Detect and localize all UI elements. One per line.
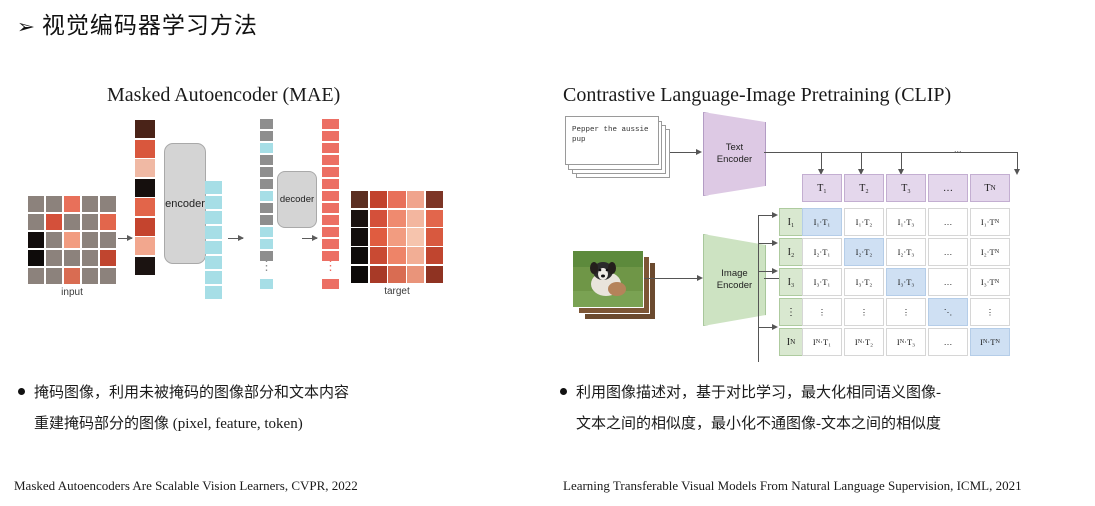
input-patch — [82, 196, 98, 212]
clip-text-encoder-label: Text Encoder — [717, 142, 752, 166]
mae-bullet-marker — [18, 388, 25, 395]
mixed-token-gray — [260, 179, 273, 189]
mae-target-caption: target — [351, 286, 443, 297]
input-patch — [82, 268, 98, 284]
target-patch — [370, 266, 387, 283]
input-patch — [28, 196, 44, 212]
text-token-cell-1: T₁ — [802, 174, 842, 202]
input-patch — [100, 250, 116, 266]
text-token-cell-3: T₃ — [886, 174, 926, 202]
visible-patch — [135, 198, 155, 216]
mae-visible-patch-strip — [135, 120, 155, 275]
arrow-input-to-patches-icon — [118, 238, 132, 239]
prediction-token — [322, 227, 339, 237]
target-patch — [388, 228, 405, 245]
prediction-token — [322, 279, 339, 289]
clip-bullet-line2: 文本之间的相似度，最小化不通图像-文本之间的相似度 — [576, 409, 1080, 440]
clip-diagram: Pepper the aussie pup Text En — [560, 112, 1060, 372]
mixed-token-gray — [260, 155, 273, 165]
target-patch — [370, 247, 387, 264]
target-patch — [426, 266, 443, 283]
matrix-cell: IN·T₁ — [802, 328, 842, 356]
arrow-to-t2-icon — [861, 152, 862, 170]
arrow-to-i2-icon — [759, 243, 773, 244]
clip-text-card-stack: Pepper the aussie pup — [565, 116, 670, 178]
clip-top-ellipsis: ... — [954, 144, 962, 154]
clip-bullet-line1: 利用图像描述对，基于对比学习，最大化相同语义图像- — [576, 385, 941, 401]
prediction-token — [322, 215, 339, 225]
latent-token — [205, 256, 222, 269]
image-token-cell-1: I₁ — [779, 208, 803, 236]
arrow-to-t1-icon — [821, 152, 822, 170]
latent-token — [205, 181, 222, 194]
mae-bullet-line1: 掩码图像，利用未被掩码的图像部分和文本内容 — [34, 385, 349, 401]
mixed-token-cyan — [260, 191, 273, 201]
mixed-token-gray — [260, 203, 273, 213]
matrix-cell: ⋮ — [844, 298, 884, 326]
target-patch — [388, 191, 405, 208]
text-token-cell-4: … — [928, 174, 968, 202]
target-patch — [351, 191, 368, 208]
prediction-token — [322, 155, 339, 165]
prediction-column-ellipsis: ⋮ — [322, 263, 339, 277]
target-patch — [388, 247, 405, 264]
clip-panel-heading: Contrastive Language-Image Pretraining (… — [563, 84, 951, 107]
mixed-token-gray — [260, 119, 273, 129]
target-patch — [351, 247, 368, 264]
matrix-row: I₁·T₁I₁·T₂I₁·T₃…I₁·TN — [802, 208, 1010, 236]
latent-token — [205, 271, 222, 284]
visible-patch — [135, 120, 155, 138]
input-patch — [100, 196, 116, 212]
bullet-triangle-icon: ➢ — [17, 16, 36, 39]
input-patch — [28, 268, 44, 284]
arrow-textcards-to-encoder-icon — [670, 152, 697, 153]
matrix-cell: I₂·T₃ — [886, 238, 926, 266]
mae-encoder-box: encoder — [164, 143, 206, 264]
prediction-token — [322, 203, 339, 213]
mae-mixed-token-column: ⋮ — [260, 119, 273, 289]
matrix-cell: I₂·TN — [970, 238, 1010, 266]
input-patch — [46, 268, 62, 284]
target-patch — [351, 210, 368, 227]
input-patch — [64, 250, 80, 266]
clip-image-token-column: I₁I₂I₃⋮IN — [779, 208, 803, 356]
input-patch — [82, 250, 98, 266]
target-patch — [426, 191, 443, 208]
page-title: ➢视觉编码器学习方法 — [18, 6, 258, 40]
latent-token — [205, 211, 222, 224]
matrix-cell: ⋮ — [970, 298, 1010, 326]
mae-latent-token-column — [205, 181, 222, 299]
input-patch — [64, 232, 80, 248]
mixed-column-ellipsis: ⋮ — [260, 263, 273, 277]
mixed-token-cyan — [260, 239, 273, 249]
input-patch — [46, 250, 62, 266]
dog-photo-icon — [573, 251, 643, 307]
matrix-cell: … — [928, 328, 968, 356]
mae-encoder-label: encoder — [165, 198, 205, 210]
image-token-cell-5: IN — [779, 328, 803, 356]
input-patch — [46, 214, 62, 230]
input-patch — [28, 250, 44, 266]
target-patch — [407, 191, 424, 208]
matrix-cell: I₁·T₃ — [886, 208, 926, 236]
visible-patch — [135, 237, 155, 255]
latent-token — [205, 286, 222, 299]
arrow-to-t3-icon — [901, 152, 902, 170]
prediction-token — [322, 179, 339, 189]
target-patch — [426, 247, 443, 264]
arrow-to-tn-icon — [1017, 152, 1018, 170]
arrow-decoder-to-target-icon — [302, 238, 317, 239]
image-token-cell-4: ⋮ — [779, 298, 803, 326]
target-patch — [351, 228, 368, 245]
arrow-images-to-encoder-icon — [644, 278, 698, 279]
matrix-cell: I₃·T₂ — [844, 268, 884, 296]
matrix-cell: I₃·TN — [970, 268, 1010, 296]
latent-token — [205, 241, 222, 254]
clip-similarity-matrix: I₁·T₁I₁·T₂I₁·T₃…I₁·TNI₂·T₁I₂·T₂I₂·T₃…I₂·… — [802, 208, 1010, 356]
page-title-text: 视觉编码器学习方法 — [42, 13, 258, 38]
arrow-to-i1-icon — [759, 215, 773, 216]
input-patch — [82, 232, 98, 248]
input-patch — [100, 232, 116, 248]
latent-token — [205, 196, 222, 209]
mae-decoder-box: decoder — [277, 171, 317, 228]
matrix-cell: ⋱ — [928, 298, 968, 326]
mixed-token-cyan — [260, 143, 273, 153]
photo-front-dog — [572, 250, 644, 308]
latent-token — [205, 226, 222, 239]
text-token-cell-5: TN — [970, 174, 1010, 202]
matrix-cell: I₂·T₂ — [844, 238, 884, 266]
mae-bullet-block: 掩码图像，利用未被掩码的图像部分和文本内容 重建掩码部分的图像 (pixel, … — [18, 378, 498, 440]
input-patch — [46, 196, 62, 212]
input-patch — [82, 214, 98, 230]
clip-text-token-row: T₁T₂T₃…TN — [802, 174, 1010, 202]
matrix-row: IN·T₁IN·T₂IN·T₃…IN·TN — [802, 328, 1010, 356]
text-token-cell-2: T₂ — [844, 174, 884, 202]
target-patch — [370, 228, 387, 245]
arrow-to-i3-icon — [759, 271, 773, 272]
matrix-row: I₂·T₁I₂·T₂I₂·T₃…I₂·TN — [802, 238, 1010, 266]
mae-bullet-line2: 重建掩码部分的图像 (pixel, feature, token) — [34, 409, 498, 440]
prediction-token — [322, 167, 339, 177]
visible-patch — [135, 257, 155, 275]
target-patch — [407, 266, 424, 283]
visible-patch — [135, 179, 155, 197]
clip-bullet-block: 利用图像描述对，基于对比学习，最大化相同语义图像- 文本之间的相似度，最小化不通… — [560, 378, 1080, 440]
input-patch — [64, 268, 80, 284]
mixed-token-gray — [260, 131, 273, 141]
mae-input-caption: input — [28, 287, 116, 298]
input-patch — [100, 268, 116, 284]
mae-prediction-token-column: ⋮ — [322, 119, 339, 289]
mae-diagram: input encoder ⋮ decoder ⋮ target — [14, 118, 514, 313]
target-patch — [407, 228, 424, 245]
clip-bullet-marker — [560, 388, 567, 395]
mae-decoder-label: decoder — [280, 194, 314, 205]
clip-text-card-label: Pepper the aussie pup — [572, 125, 652, 145]
target-patch — [351, 266, 368, 283]
input-patch — [28, 214, 44, 230]
matrix-cell: ⋮ — [802, 298, 842, 326]
matrix-cell: ⋮ — [886, 298, 926, 326]
matrix-cell: I₃·T₁ — [802, 268, 842, 296]
matrix-cell: I₁·T₁ — [802, 208, 842, 236]
clip-image-encoder-box: Image Encoder — [703, 234, 766, 326]
target-patch — [370, 210, 387, 227]
mae-panel-heading: Masked Autoencoder (MAE) — [107, 84, 340, 107]
clip-image-encoder-label: Image Encoder — [717, 268, 752, 292]
target-patch — [407, 210, 424, 227]
matrix-row: I₃·T₁I₃·T₂I₃·T₃…I₃·TN — [802, 268, 1010, 296]
matrix-cell: IN·T₂ — [844, 328, 884, 356]
clip-image-stack — [570, 248, 666, 320]
image-token-cell-2: I₂ — [779, 238, 803, 266]
target-patch — [370, 191, 387, 208]
mae-citation: Masked Autoencoders Are Scalable Vision … — [14, 478, 358, 494]
matrix-cell: I₁·T₂ — [844, 208, 884, 236]
image-token-cell-3: I₃ — [779, 268, 803, 296]
image-encoder-bus-v — [758, 215, 759, 362]
prediction-token — [322, 239, 339, 249]
mae-target-patch-grid — [351, 191, 443, 283]
input-patch — [100, 214, 116, 230]
input-patch — [64, 214, 80, 230]
matrix-cell: … — [928, 238, 968, 266]
matrix-cell: IN·TN — [970, 328, 1010, 356]
matrix-cell: I₁·TN — [970, 208, 1010, 236]
input-patch — [46, 232, 62, 248]
mixed-token-gray — [260, 167, 273, 177]
mae-input-patch-grid — [28, 196, 116, 284]
matrix-cell: IN·T₃ — [886, 328, 926, 356]
visible-patch — [135, 218, 155, 236]
arrow-to-in-icon — [759, 327, 773, 328]
visible-patch — [135, 140, 155, 158]
matrix-cell: … — [928, 208, 968, 236]
arrow-latent-to-mixed-icon — [228, 238, 243, 239]
prediction-token — [322, 119, 339, 129]
mixed-token-cyan — [260, 227, 273, 237]
matrix-cell: I₃·T₃ — [886, 268, 926, 296]
target-patch — [426, 210, 443, 227]
text-encoder-bus-line — [764, 152, 1018, 153]
mixed-token-cyan — [260, 279, 273, 289]
target-patch — [407, 247, 424, 264]
text-card-front: Pepper the aussie pup — [565, 116, 659, 165]
clip-citation: Learning Transferable Visual Models From… — [563, 478, 1022, 494]
target-patch — [388, 266, 405, 283]
mixed-token-gray — [260, 215, 273, 225]
prediction-token — [322, 131, 339, 141]
visible-patch — [135, 159, 155, 177]
target-patch — [426, 228, 443, 245]
matrix-cell: … — [928, 268, 968, 296]
matrix-cell: I₂·T₁ — [802, 238, 842, 266]
input-patch — [28, 232, 44, 248]
clip-text-encoder-box: Text Encoder — [703, 112, 766, 196]
prediction-token — [322, 143, 339, 153]
target-patch — [388, 210, 405, 227]
matrix-row: ⋮⋮⋮⋱⋮ — [802, 298, 1010, 326]
prediction-token — [322, 191, 339, 201]
input-patch — [64, 196, 80, 212]
